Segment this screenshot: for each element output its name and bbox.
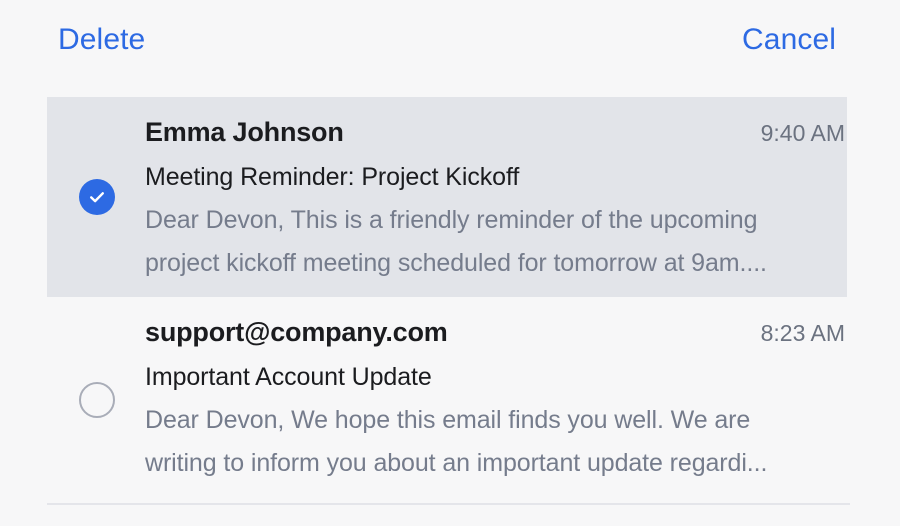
message-preview: Dear Devon, This is a friendly reminder … bbox=[145, 199, 825, 285]
timestamp: 8:23 AM bbox=[761, 318, 845, 348]
message-subject: Important Account Update bbox=[145, 360, 845, 394]
message-list: Emma Johnson 9:40 AM Meeting Reminder: P… bbox=[0, 97, 900, 503]
toolbar: Delete Cancel bbox=[0, 0, 900, 80]
message-row-selected[interactable]: Emma Johnson 9:40 AM Meeting Reminder: P… bbox=[47, 97, 847, 297]
checkbox-unchecked-icon[interactable] bbox=[79, 382, 115, 418]
sender-name: support@company.com bbox=[145, 315, 448, 349]
message-row[interactable]: support@company.com 8:23 AM Important Ac… bbox=[47, 297, 847, 503]
checkbox-cell[interactable] bbox=[47, 97, 145, 297]
message-header: Emma Johnson 9:40 AM bbox=[145, 115, 845, 149]
timestamp: 9:40 AM bbox=[761, 118, 845, 148]
cancel-button[interactable]: Cancel bbox=[742, 22, 836, 58]
delete-button[interactable]: Delete bbox=[58, 22, 145, 58]
checkbox-cell[interactable] bbox=[47, 297, 145, 503]
checkbox-checked-icon[interactable] bbox=[79, 179, 115, 215]
message-header: support@company.com 8:23 AM bbox=[145, 315, 845, 349]
sender-name: Emma Johnson bbox=[145, 115, 344, 149]
message-content: Emma Johnson 9:40 AM Meeting Reminder: P… bbox=[145, 97, 847, 285]
message-subject: Meeting Reminder: Project Kickoff bbox=[145, 160, 845, 194]
list-divider bbox=[47, 503, 850, 505]
email-selection-screen: Delete Cancel Emma Johnson 9:40 AM Meeti… bbox=[0, 0, 900, 526]
message-content: support@company.com 8:23 AM Important Ac… bbox=[145, 297, 847, 485]
message-preview: Dear Devon, We hope this email finds you… bbox=[145, 399, 825, 485]
